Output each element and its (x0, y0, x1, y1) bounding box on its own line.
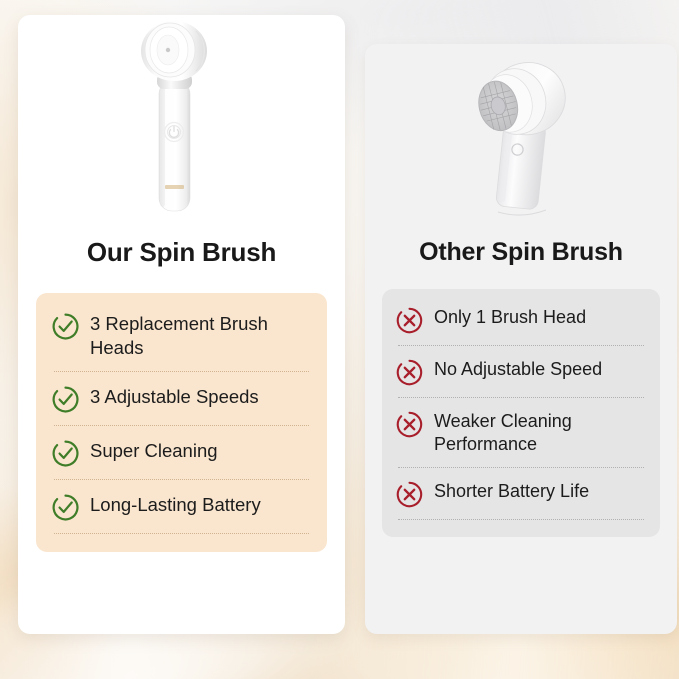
feature-list-our-spin-brush: 3 Replacement Brush Heads 3 Adjustable S… (36, 293, 327, 552)
list-item: Super Cleaning (52, 438, 311, 467)
list-item: Weaker Cleaning Performance (396, 409, 646, 456)
check-circle-icon (52, 440, 79, 467)
list-item: 3 Adjustable Speeds (52, 384, 311, 413)
list-item: Shorter Battery Life (396, 479, 646, 508)
list-divider (54, 533, 309, 534)
list-item-label: No Adjustable Speed (434, 357, 602, 381)
product-image-other-spin-brush (365, 44, 677, 224)
x-circle-icon (396, 359, 423, 386)
list-item: No Adjustable Speed (396, 357, 646, 386)
page-title-our-spin-brush: Our Spin Brush (18, 237, 345, 268)
panel-other-spin-brush: Other Spin Brush Only 1 Brush Head (365, 44, 677, 634)
power-button-glyph (164, 123, 183, 142)
brand-mark (165, 185, 184, 189)
grey-spin-brush-illustration (436, 44, 606, 222)
list-item-label: Long-Lasting Battery (90, 492, 261, 517)
list-item: Only 1 Brush Head (396, 305, 646, 334)
list-item-label: Super Cleaning (90, 438, 218, 463)
panel-our-spin-brush: Our Spin Brush 3 Replacement Brush Heads (18, 15, 345, 634)
x-circle-icon (396, 411, 423, 438)
list-divider (54, 425, 309, 426)
check-circle-icon (52, 313, 79, 340)
white-spin-brush-illustration (107, 15, 257, 215)
list-item-label: Shorter Battery Life (434, 479, 589, 503)
feature-list-other-spin-brush: Only 1 Brush Head No Adjustable Speed (382, 289, 660, 537)
list-divider (54, 371, 309, 372)
page-title-other-spin-brush: Other Spin Brush (365, 238, 677, 267)
list-item-label: 3 Replacement Brush Heads (90, 311, 311, 359)
comparison-graphic: Our Spin Brush 3 Replacement Brush Heads (0, 0, 679, 679)
product-image-our-spin-brush (18, 15, 345, 227)
check-circle-icon (52, 494, 79, 521)
list-divider (398, 467, 644, 468)
x-circle-icon (396, 481, 423, 508)
list-divider (398, 397, 644, 398)
list-divider (54, 479, 309, 480)
x-circle-icon (396, 307, 423, 334)
check-circle-icon (52, 386, 79, 413)
list-divider (398, 519, 644, 520)
list-item-label: Only 1 Brush Head (434, 305, 586, 329)
list-item: 3 Replacement Brush Heads (52, 311, 311, 359)
list-item-label: Weaker Cleaning Performance (434, 409, 646, 456)
list-item: Long-Lasting Battery (52, 492, 311, 521)
list-item-label: 3 Adjustable Speeds (90, 384, 259, 409)
list-divider (398, 345, 644, 346)
